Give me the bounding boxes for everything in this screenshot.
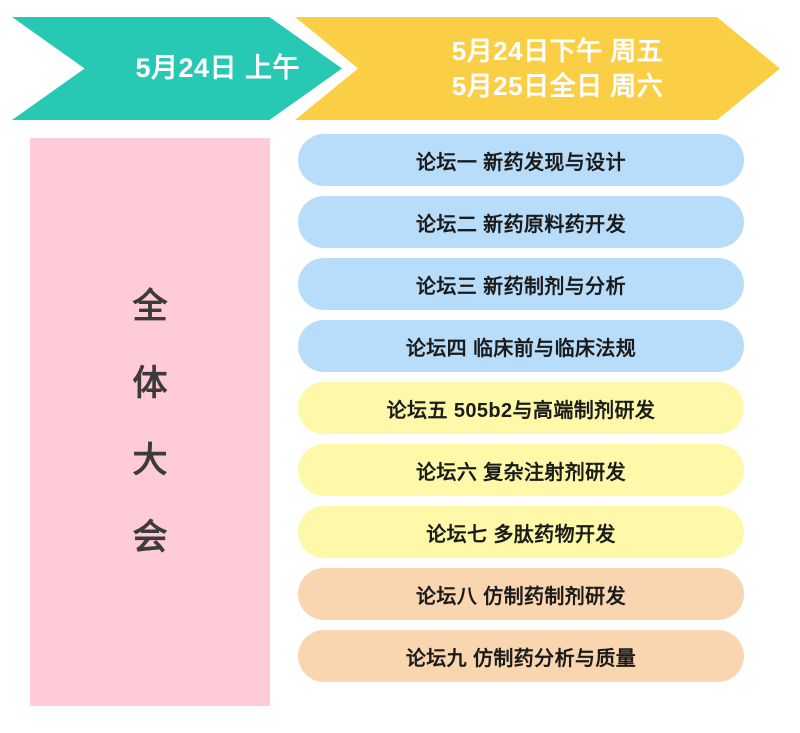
forum-item-7[interactable]: 论坛七 多肽药物开发 [298,506,744,558]
forum-item-label: 论坛三 新药制剂与分析 [416,270,626,299]
forum-item-label: 论坛五 505b2与高端制剂研发 [387,394,656,423]
forum-item-1[interactable]: 论坛一 新药发现与设计 [298,134,744,186]
plenary-session-title: 全 体 大 会 [132,268,167,576]
plenary-title-char-4: 会 [132,520,167,555]
plenary-title-char-3: 大 [132,443,167,478]
forum-item-label: 论坛六 复杂注射剂研发 [416,456,626,485]
afternoon-session-banner[interactable]: 5月24日下午 周五 5月25日全日 周六 [295,17,780,120]
forum-item-label: 论坛二 新药原料药开发 [416,208,626,237]
plenary-session-panel[interactable]: 全 体 大 会 [30,138,270,706]
conference-agenda-diagram: 5月24日 上午 5月24日下午 周五 5月25日全日 周六 全 体 大 会 论… [0,0,800,733]
forum-item-2[interactable]: 论坛二 新药原料药开发 [298,196,744,248]
morning-session-banner[interactable]: 5月24日 上午 [12,17,342,120]
forum-item-9[interactable]: 论坛九 仿制药分析与质量 [298,630,744,682]
forum-item-3[interactable]: 论坛三 新药制剂与分析 [298,258,744,310]
forum-item-label: 论坛九 仿制药分析与质量 [406,642,636,671]
forum-item-5[interactable]: 论坛五 505b2与高端制剂研发 [298,382,744,434]
banner-row: 5月24日 上午 5月24日下午 周五 5月25日全日 周六 [0,17,800,120]
afternoon-session-line-2: 5月25日全日 周六 [452,69,664,103]
morning-session-label: 5月24日 上午 [135,51,300,87]
forum-item-4[interactable]: 论坛四 临床前与临床法规 [298,320,744,372]
afternoon-session-label: 5月24日下午 周五 5月25日全日 周六 [452,34,664,103]
forum-list: 论坛一 新药发现与设计 论坛二 新药原料药开发 论坛三 新药制剂与分析 论坛四 … [298,134,744,682]
plenary-title-char-1: 全 [132,289,167,324]
forum-item-6[interactable]: 论坛六 复杂注射剂研发 [298,444,744,496]
forum-item-label: 论坛一 新药发现与设计 [416,146,626,175]
forum-item-label: 论坛七 多肽药物开发 [426,518,616,547]
plenary-title-char-2: 体 [132,366,167,401]
forum-item-label: 论坛八 仿制药制剂研发 [416,580,626,609]
afternoon-session-line-1: 5月24日下午 周五 [452,34,664,68]
agenda-content: 全 体 大 会 论坛一 新药发现与设计 论坛二 新药原料药开发 论坛三 新药制剂… [0,134,800,714]
forum-item-8[interactable]: 论坛八 仿制药制剂研发 [298,568,744,620]
forum-item-label: 论坛四 临床前与临床法规 [406,332,636,361]
